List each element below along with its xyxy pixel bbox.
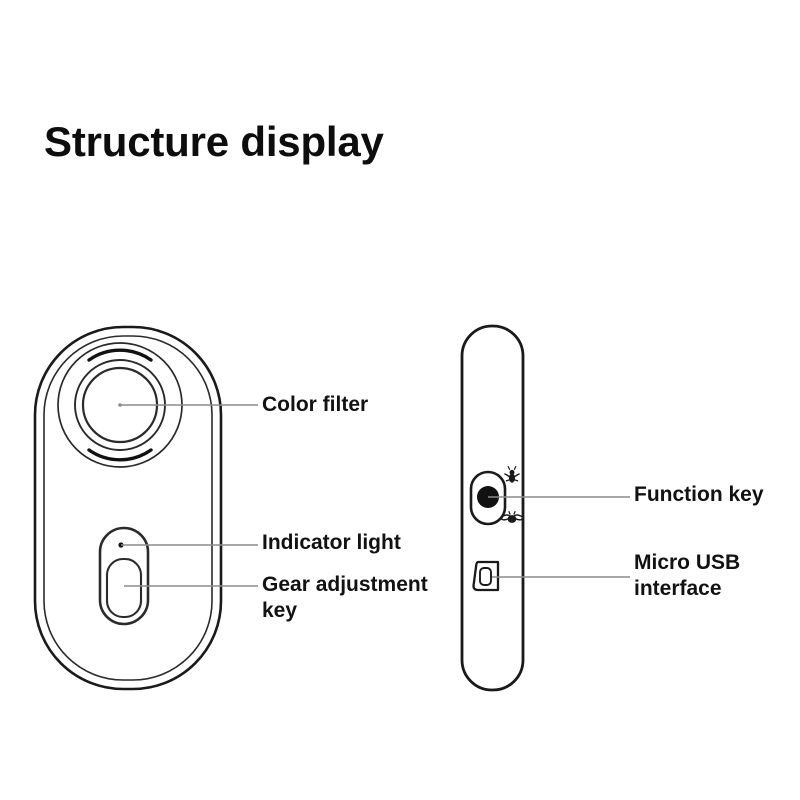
leader-anchor-dots (118, 403, 122, 407)
key-inner-slider (107, 559, 141, 617)
callout-label-color-filter: Color filter (262, 392, 368, 418)
callout-label-micro-usb-interface: Micro USB interface (634, 550, 794, 601)
callout-label-gear-adjustment-key: Gear adjustment key (262, 572, 452, 623)
side-view-device (462, 326, 523, 690)
diagram-canvas: Structure display (0, 0, 800, 800)
callout-label-function-key: Function key (634, 482, 764, 508)
callout-label-indicator-light: Indicator light (262, 530, 401, 556)
micro-usb-interface[interactable] (474, 562, 498, 590)
structure-diagram (0, 0, 800, 800)
function-key[interactable] (471, 472, 505, 524)
gear-adjustment-key[interactable] (100, 528, 148, 624)
micro-usb-inner-slot (480, 568, 491, 585)
front-view-device (35, 327, 221, 689)
